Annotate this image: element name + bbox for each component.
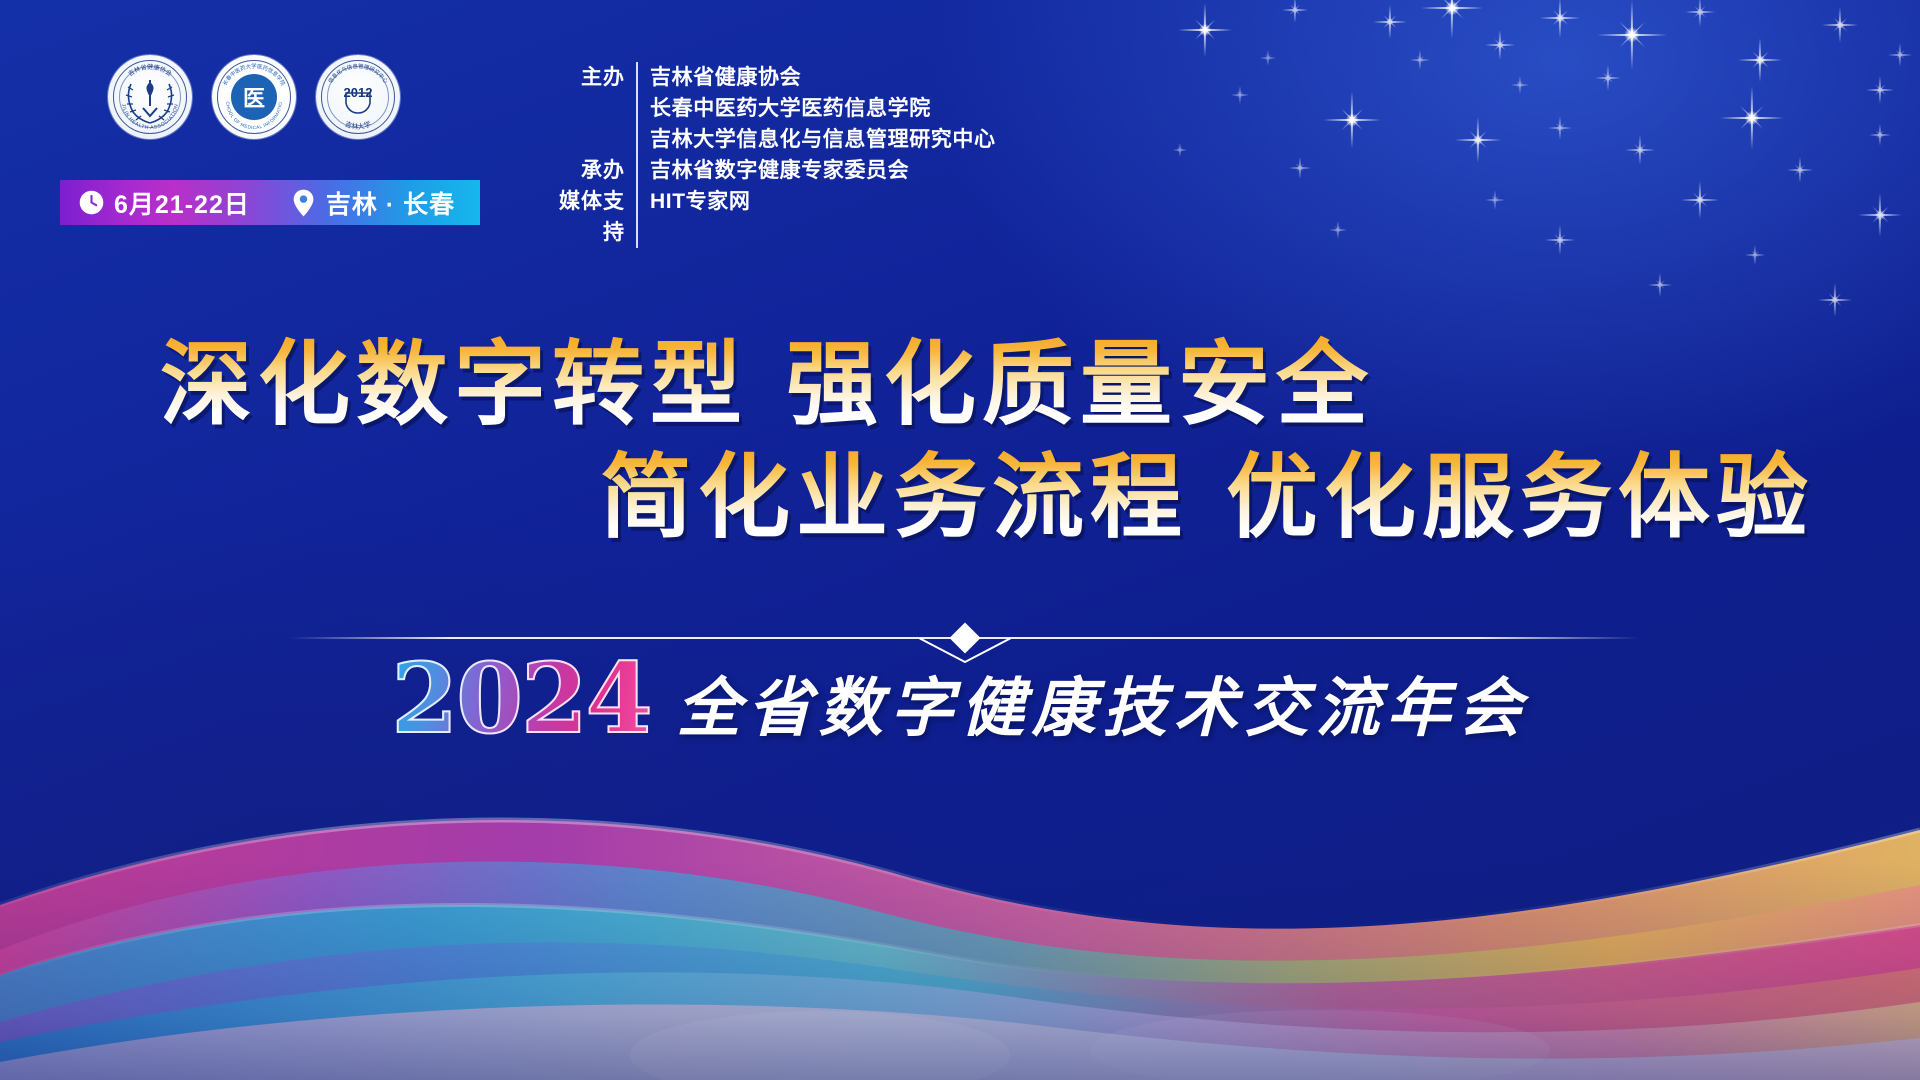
logo-arc-text: 长春中医药大学医药信息学院 SCHOOL OF MEDICAL INFORMAT…: [212, 55, 296, 139]
svg-text:JILIN HEALTH ASSOCIATION: JILIN HEALTH ASSOCIATION: [120, 103, 180, 131]
organizer-value: 长春中医药大学医药信息学院: [650, 93, 996, 124]
svg-text:信息化与信息管理研究中心: 信息化与信息管理研究中心: [326, 62, 389, 85]
organizer-label: 主办: [540, 62, 636, 93]
organizer-row: 主办吉林省健康协会长春中医药大学医药信息学院吉林大学信息化与信息管理研究中心: [540, 62, 996, 155]
organizer-values: HIT专家网: [650, 186, 750, 217]
headline-line-2: 简化业务流程 优化服务体验: [0, 448, 1920, 547]
location-pin-icon: [290, 188, 317, 218]
organizer-value: 吉林大学信息化与信息管理研究中心: [650, 124, 996, 155]
divider-diamond-icon: [954, 625, 976, 649]
location-item: 吉林 · 长春: [290, 185, 455, 221]
clock-icon: [78, 189, 105, 216]
organizer-values: 吉林省健康协会长春中医药大学医药信息学院吉林大学信息化与信息管理研究中心: [650, 62, 996, 155]
date-text: 6月21-22日: [114, 185, 250, 221]
date-item: 6月21-22日: [78, 185, 250, 221]
logo-arc-text: 吉林省健康协会 JILIN HEALTH ASSOCIATION: [108, 55, 192, 139]
logo-jilin-university-info-center: 2012 信息化与信息管理研究中心 吉林大学: [316, 55, 400, 139]
svg-text:长春中医药大学医药信息学院: 长春中医药大学医药信息学院: [221, 62, 288, 87]
organizer-separator: [636, 62, 638, 155]
organizer-row: 承办吉林省数字健康专家委员会: [540, 155, 996, 186]
location-text: 吉林 · 长春: [326, 185, 455, 221]
organizer-value: 吉林省健康协会: [650, 62, 996, 93]
logo-arc-text: 信息化与信息管理研究中心 吉林大学: [316, 55, 400, 139]
ribbon-waves: [0, 650, 1920, 1080]
conference-banner: 吉林省健康协会 JILIN HEALTH ASSOCIATION 医: [0, 0, 1920, 1080]
organizer-value: HIT专家网: [650, 186, 750, 217]
organizer-separator: [636, 186, 638, 248]
organizer-label: 承办: [540, 155, 636, 186]
logo-row: 吉林省健康协会 JILIN HEALTH ASSOCIATION 医: [108, 55, 400, 139]
organizer-values: 吉林省数字健康专家委员会: [650, 155, 909, 186]
logo-changchun-medical-information: 医 长春中医药大学医药信息学院 SCHOOL OF MEDICAL INFORM…: [212, 55, 296, 139]
headline-line-1: 深化数字转型 强化质量安全: [0, 335, 1920, 434]
date-location-bar: 6月21-22日 吉林 · 长春: [60, 180, 480, 225]
organizer-label: 媒体支持: [540, 186, 636, 248]
svg-text:吉林大学: 吉林大学: [344, 119, 373, 131]
organizer-block: 主办吉林省健康协会长春中医药大学医药信息学院吉林大学信息化与信息管理研究中心承办…: [540, 62, 996, 248]
svg-text:吉林省健康协会: 吉林省健康协会: [127, 63, 173, 78]
logo-jilin-health-association: 吉林省健康协会 JILIN HEALTH ASSOCIATION: [108, 55, 192, 139]
organizer-value: 吉林省数字健康专家委员会: [650, 155, 909, 186]
organizer-row: 媒体支持HIT专家网: [540, 186, 996, 248]
organizer-separator: [636, 155, 638, 186]
headline: 深化数字转型 强化质量安全 简化业务流程 优化服务体验: [0, 335, 1920, 548]
